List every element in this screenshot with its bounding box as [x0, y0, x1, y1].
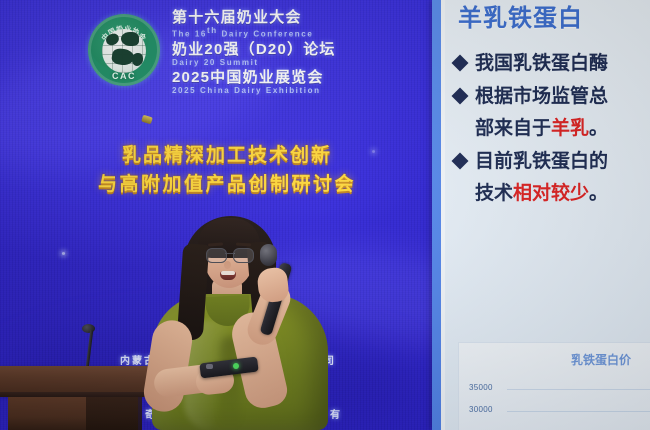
glasses-lens-right	[233, 248, 254, 263]
continuation-post: 。	[589, 183, 608, 204]
clicker-led-indicator	[233, 363, 239, 369]
chart-gridline	[507, 389, 650, 390]
conference-line-1: 第十六届奶业大会 The 16th Dairy Conference	[172, 10, 354, 39]
slide-bullet-text: 我国乳铁蛋白酶	[475, 50, 608, 79]
glasses-lens-left	[206, 248, 227, 263]
continuation-highlight: 相对较少	[513, 183, 589, 204]
slide-left-accent-band-inner	[441, 0, 445, 430]
chart-y-tick: 35000	[469, 383, 493, 392]
speaker-nose	[224, 261, 231, 269]
conference-line-1-cn: 第十六届奶业大会	[172, 10, 354, 25]
speaker-teeth	[221, 271, 235, 275]
slide-bullet-item: 我国乳铁蛋白酶	[454, 50, 650, 79]
slide-bullet-item: 目前乳铁蛋白的	[454, 148, 650, 177]
diamond-bullet-icon	[452, 152, 469, 169]
conference-line-3-cn: 2025中国奶业展览会	[172, 70, 354, 85]
conference-branding-lockup: 中国奶业协会 CAC 第十六届奶业大会 The 16th Dairy Confe…	[88, 6, 353, 106]
conference-line-2-en: Dairy 20 Summit	[172, 59, 354, 67]
podium-body-shadow	[86, 397, 142, 430]
slide-bullet-list: 我国乳铁蛋白酶 根据市场监管总 部来自于羊乳。 目前乳铁蛋白的 技术相对较少。	[454, 50, 650, 213]
speaker-hand-holding-microphone	[256, 267, 289, 304]
conference-line-3: 2025中国奶业展览会 2025 China Dairy Exhibition	[172, 70, 354, 95]
conference-line-3-en: 2025 China Dairy Exhibition	[172, 87, 354, 95]
slide-bullet-text: 根据市场监管总	[475, 83, 608, 112]
slide-heading: 羊乳铁蛋白	[458, 0, 650, 33]
continuation-highlight: 羊乳	[551, 118, 589, 139]
clicker-button	[206, 364, 213, 369]
presentation-photo: 中国奶业协会 CAC 第十六届奶业大会 The 16th Dairy Confe…	[0, 0, 650, 430]
continuation-pre: 部来自于	[475, 118, 551, 139]
slide-left-accent-band	[432, 0, 441, 430]
chart-title: 乳铁蛋白价	[571, 351, 631, 368]
conference-line-2-cn: 奶业20强（D20）论坛	[172, 42, 354, 57]
speaker-figure	[150, 216, 340, 430]
slide-bullet-continuation: 部来自于羊乳。	[475, 115, 650, 144]
slide-bullet-text: 目前乳铁蛋白的	[475, 148, 608, 177]
seminar-title-line-1: 乳品精深加工技术创新	[62, 142, 392, 171]
globe-icon	[102, 29, 146, 73]
slide-chart: 乳铁蛋白价 35000 30000	[458, 342, 650, 430]
diamond-bullet-icon	[452, 87, 469, 104]
conference-line-1-en: The 16th Dairy Conference	[172, 27, 354, 39]
seminar-title-line-2: 与高附加值产品创制研讨会	[62, 171, 392, 200]
continuation-post: 。	[589, 118, 608, 139]
continuation-pre: 技术	[475, 183, 513, 204]
cac-logo: 中国奶业协会 CAC	[88, 14, 160, 86]
diamond-bullet-icon	[452, 55, 469, 72]
glasses-icon	[206, 248, 254, 262]
slide-bullet-continuation: 技术相对较少。	[475, 180, 650, 209]
seminar-title: 乳品精深加工技术创新 与高附加值产品创制研讨会	[62, 142, 392, 199]
slide-bullet-item: 根据市场监管总	[454, 83, 650, 112]
cac-abbreviation: CAC	[88, 71, 160, 81]
presentation-slide: 羊乳铁蛋白 我国乳铁蛋白酶 根据市场监管总 部来自于羊乳。 目前乳铁蛋白的 技术…	[432, 0, 650, 430]
conference-title-block: 第十六届奶业大会 The 16th Dairy Conference 奶业20强…	[172, 10, 354, 98]
handheld-microphone-head	[260, 244, 277, 266]
conference-line-2: 奶业20强（D20）论坛 Dairy 20 Summit	[172, 42, 354, 67]
chart-y-tick: 30000	[469, 405, 493, 414]
chart-gridline	[507, 411, 650, 412]
